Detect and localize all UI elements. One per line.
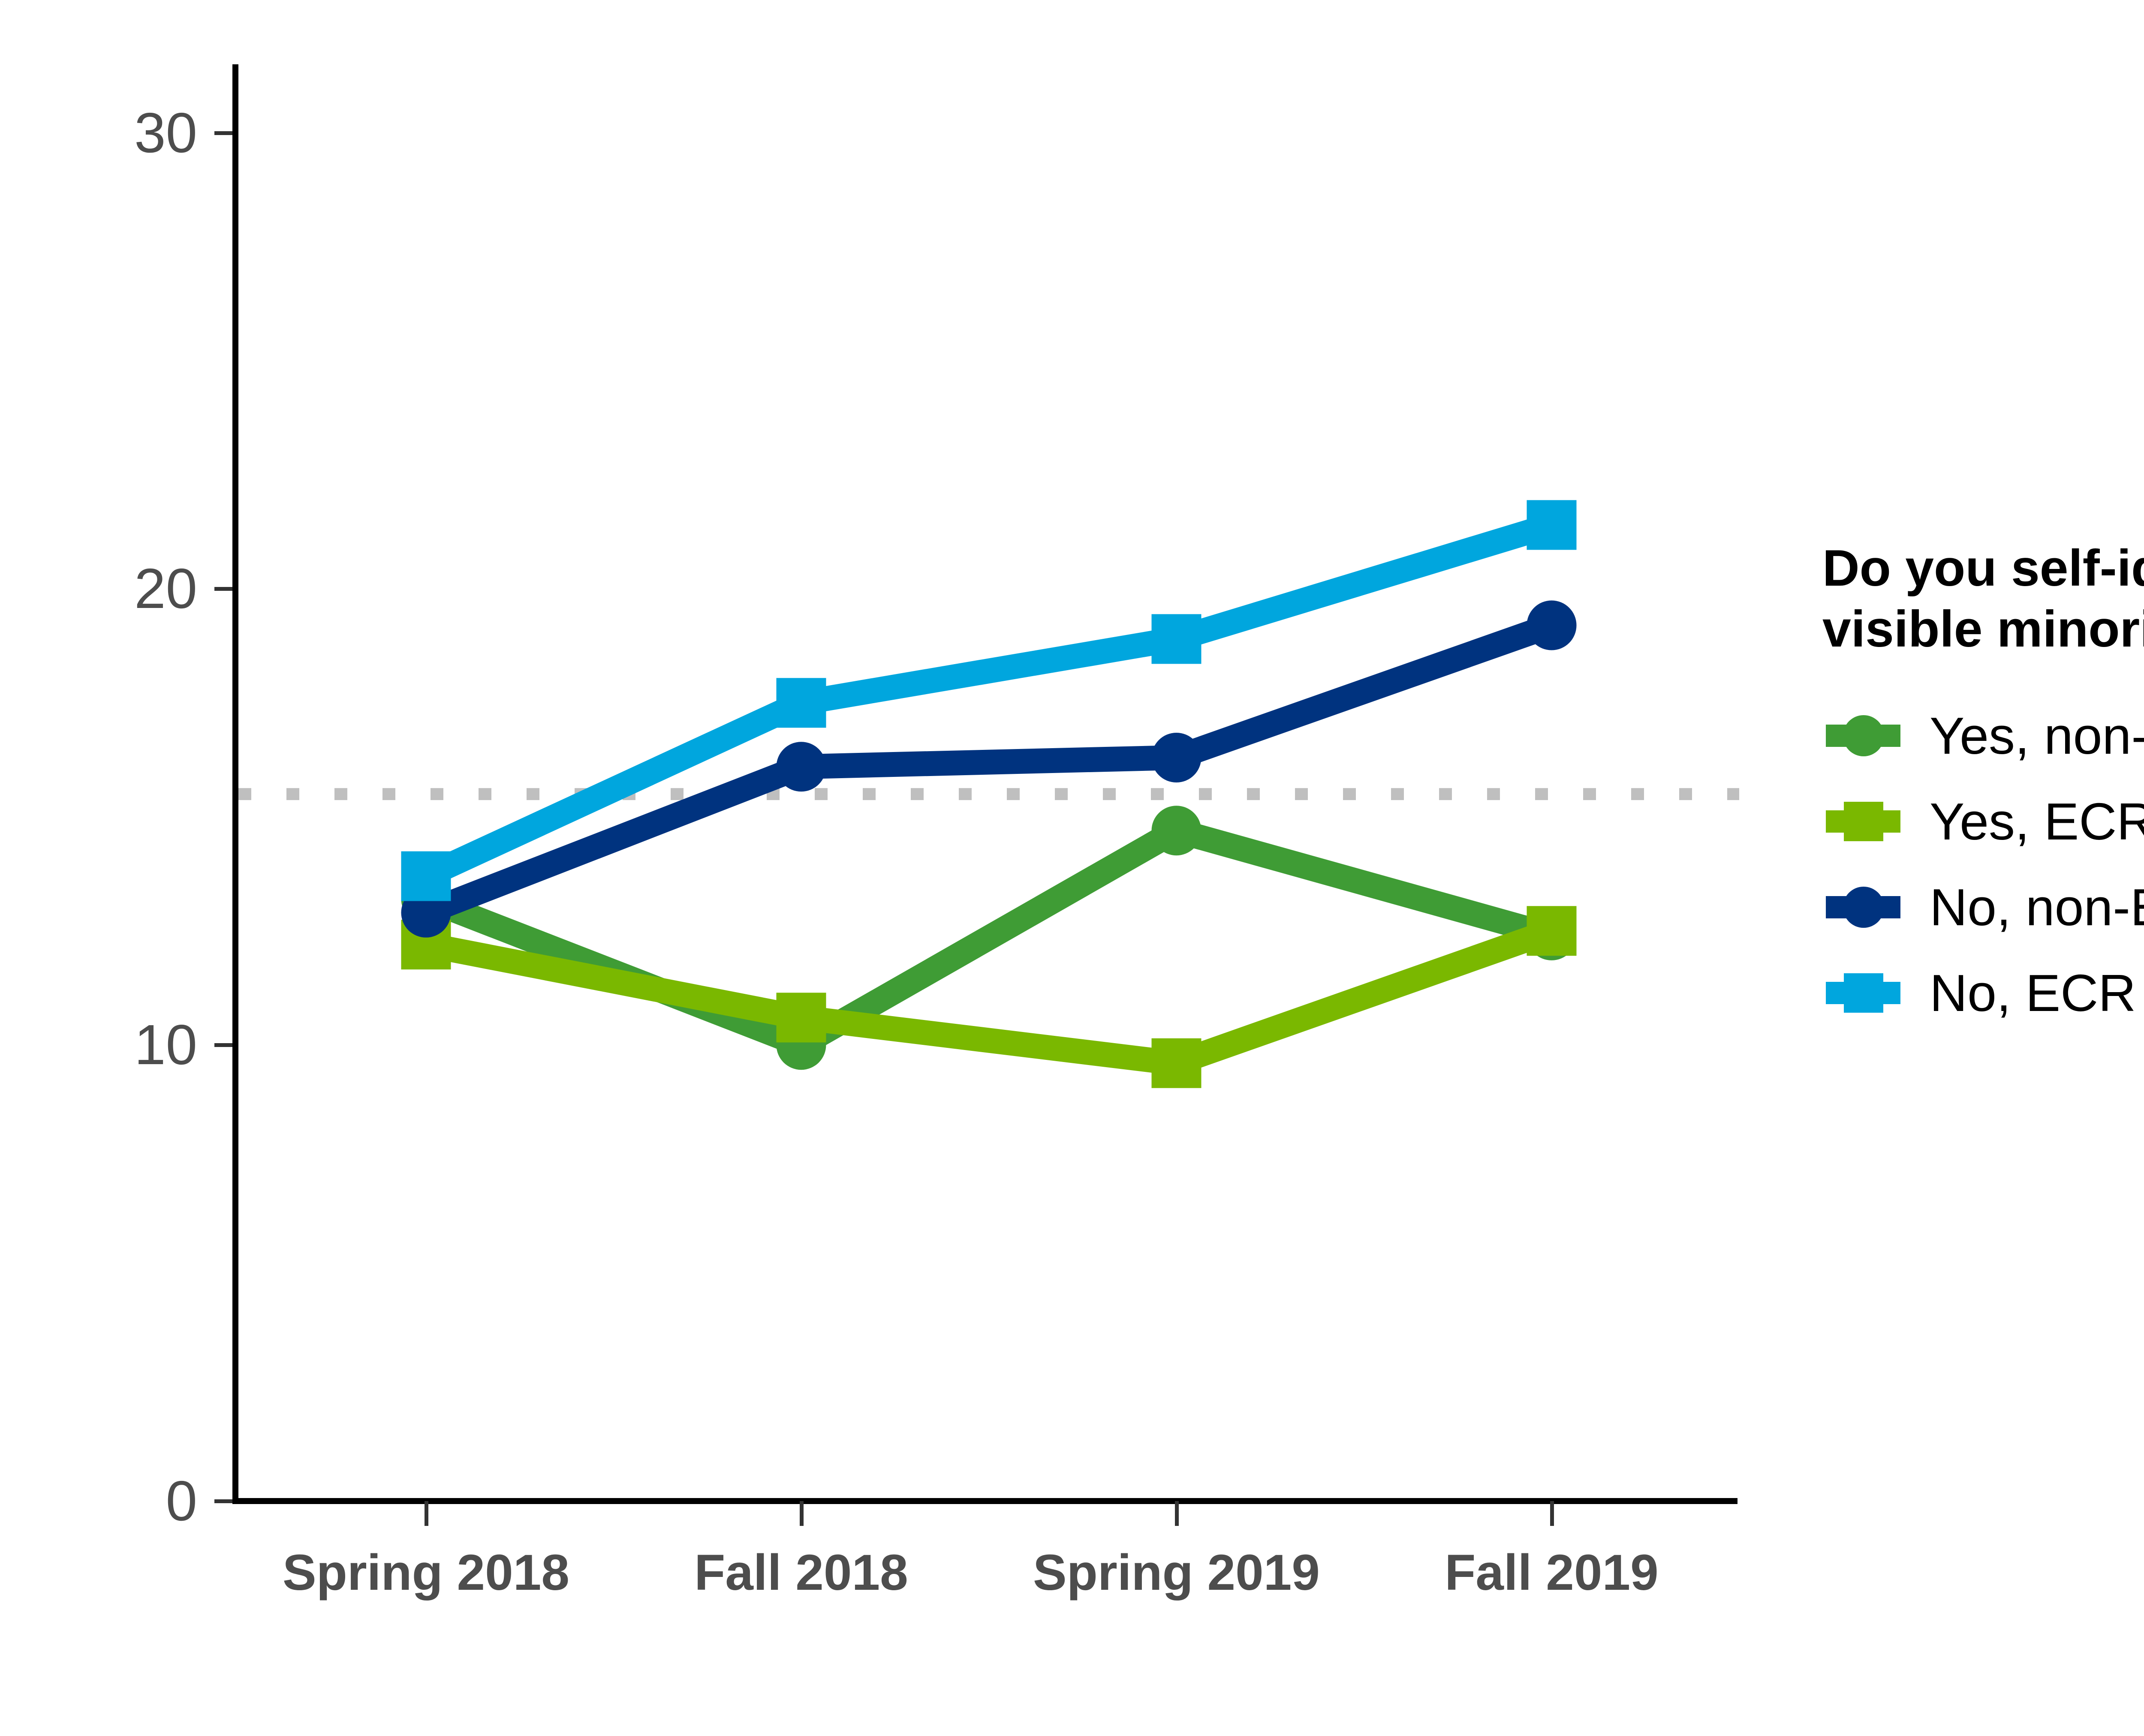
x-tick-label: Fall 2018 xyxy=(694,1543,908,1602)
legend-marker-circle-icon xyxy=(1843,887,1884,928)
chart-figure: Success rate % 0102030 Spring 2018Fall 2… xyxy=(0,0,2144,1736)
legend-item-label: Yes, ECR xyxy=(1904,791,2144,851)
series-line xyxy=(426,830,1552,1045)
legend-swatch-square-icon xyxy=(1822,950,1904,1036)
x-tick-label: Fall 2019 xyxy=(1445,1543,1659,1602)
data-point[interactable] xyxy=(1527,600,1577,650)
legend-item-label: Yes, non-ECR xyxy=(1904,706,2144,766)
data-point[interactable] xyxy=(777,993,826,1042)
legend-swatch-circle-icon xyxy=(1822,693,1904,779)
legend-item-no-ecr[interactable]: No, ECR xyxy=(1822,950,2144,1036)
legend: Do you self-identify as a visible minori… xyxy=(1822,538,2144,1036)
data-point[interactable] xyxy=(1527,906,1577,956)
legend-item-label: No, non-ECR xyxy=(1904,877,2144,937)
legend-items: Yes, non-ECRYes, ECRNo, non-ECRNo, ECR xyxy=(1822,693,2144,1036)
y-tick-label: 0 xyxy=(69,1473,197,1529)
y-tick-mark xyxy=(214,587,232,591)
legend-swatch-circle-icon xyxy=(1822,864,1904,950)
y-tick-mark xyxy=(214,1043,232,1047)
data-point[interactable] xyxy=(1152,614,1201,664)
y-tick-mark xyxy=(214,1499,232,1503)
plot-svg xyxy=(238,64,1739,1501)
y-tick-mark xyxy=(214,131,232,135)
x-tick-mark xyxy=(425,1501,428,1526)
y-tick-label: 30 xyxy=(69,105,197,161)
data-point[interactable] xyxy=(1152,806,1201,855)
legend-item-yes-non-ecr[interactable]: Yes, non-ECR xyxy=(1822,693,2144,779)
legend-title: Do you self-identify as a visible minori… xyxy=(1822,538,2144,659)
legend-marker-circle-icon xyxy=(1843,715,1884,756)
legend-item-yes-ecr[interactable]: Yes, ECR xyxy=(1822,779,2144,864)
y-tick-label: 20 xyxy=(69,560,197,617)
legend-item-label: No, ECR xyxy=(1904,963,2136,1023)
legend-item-no-non-ecr[interactable]: No, non-ECR xyxy=(1822,864,2144,950)
x-tick-label: Spring 2019 xyxy=(1033,1543,1320,1602)
series-line xyxy=(426,525,1552,876)
legend-marker-square-icon xyxy=(1844,973,1883,1013)
y-tick-label: 10 xyxy=(69,1017,197,1073)
x-tick-mark xyxy=(1550,1501,1554,1526)
plot-area xyxy=(238,64,1739,1501)
data-point[interactable] xyxy=(777,678,826,728)
y-axis-line xyxy=(232,64,238,1501)
data-point[interactable] xyxy=(1152,1038,1201,1088)
data-point[interactable] xyxy=(1527,500,1577,550)
x-tick-mark xyxy=(800,1501,804,1526)
data-point[interactable] xyxy=(777,742,826,791)
data-point[interactable] xyxy=(401,851,451,901)
x-tick-label: Spring 2018 xyxy=(283,1543,569,1602)
data-point[interactable] xyxy=(1152,733,1201,782)
legend-swatch-square-icon xyxy=(1822,779,1904,864)
x-tick-mark xyxy=(1175,1501,1179,1526)
legend-marker-square-icon xyxy=(1844,802,1883,841)
